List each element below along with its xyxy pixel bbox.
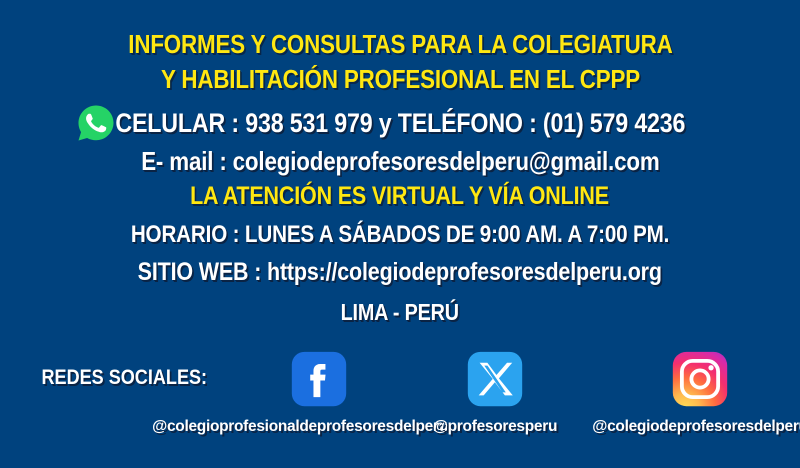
page-title-line-2: Y HABILITACIÓN PROFESIONAL EN EL CPPP	[0, 64, 800, 95]
city-line: LIMA - PERÚ	[0, 299, 800, 326]
social-item-instagram[interactable]: @colegiodeprofesoresdelperu	[560, 350, 800, 436]
instagram-icon[interactable]	[671, 350, 729, 408]
phone-line: CELULAR : 938 531 979 y TELÉFONO : (01) …	[0, 108, 800, 139]
contact-poster: INFORMES Y CONSULTAS PARA LA COLEGIATURA…	[0, 0, 800, 468]
x-twitter-icon[interactable]	[466, 350, 524, 408]
social-handle-instagram: @colegiodeprofesoresdelperu	[560, 418, 800, 436]
facebook-icon[interactable]	[290, 350, 348, 408]
email-line: E- mail : colegiodeprofesoresdelperu@gma…	[0, 146, 800, 177]
schedule-line: HORARIO : LUNES A SÁBADOS DE 9:00 AM. A …	[0, 221, 800, 249]
website-line: SITIO WEB : https://colegiodeprofesoresd…	[0, 258, 800, 287]
virtual-attention-line: LA ATENCIÓN ES VIRTUAL Y VÍA ONLINE	[0, 182, 800, 211]
page-title-line-1: INFORMES Y CONSULTAS PARA LA COLEGIATURA	[0, 29, 800, 60]
